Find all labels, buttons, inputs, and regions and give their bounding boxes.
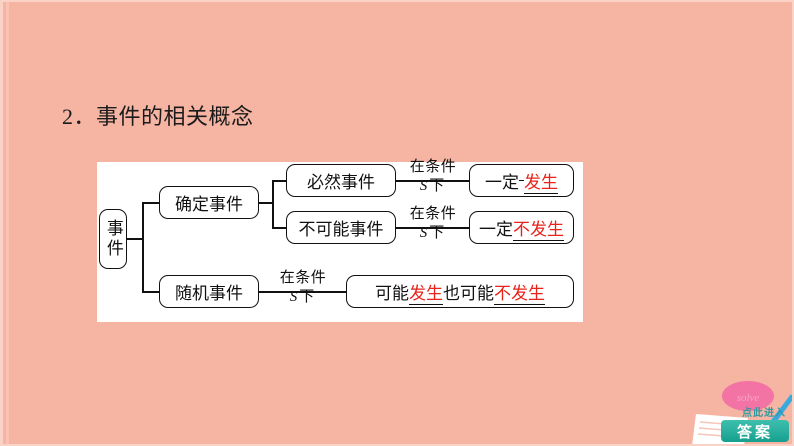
edge-label-numerator: 在条件 (400, 160, 466, 176)
connector-level1-bracket (142, 202, 144, 292)
connector-root-stem (127, 238, 143, 240)
certain-result-prefix: 一定 (485, 168, 519, 193)
impossible-result-prefix: 一定 (479, 215, 513, 240)
edge-label-denominator-suffix: 下 (429, 225, 446, 241)
edge-label-numerator: 在条件 (400, 207, 466, 223)
node-determined-event: 确定事件 (159, 186, 259, 219)
answer-button[interactable]: 答案 (721, 420, 789, 442)
certain-result-highlight: 发生 (524, 168, 558, 194)
random-result-highlight1: 发生 (409, 279, 443, 305)
concept-diagram-panel: 事件 确定事件 必然事件 在条件 S下 一定发生 不可能事件 在条件 (97, 162, 583, 322)
impossible-result-highlight: 不发生 (513, 215, 564, 241)
node-certain-event: 必然事件 (286, 164, 396, 197)
edge-label-numerator: 在条件 (267, 271, 339, 287)
node-random-event: 随机事件 (159, 275, 259, 308)
node-impossible-event: 不可能事件 (286, 211, 396, 244)
connector-to-impossible (272, 227, 287, 229)
page-title: 2．事件的相关概念 (62, 104, 254, 130)
random-result-part2: 也可能 (443, 279, 494, 304)
connector-to-random (142, 291, 160, 293)
node-root-event: 事件 (99, 209, 127, 269)
edge-label-condition-symbol: S (420, 225, 430, 241)
connector-level2-bracket (272, 180, 274, 228)
answer-decoration[interactable]: solve 点此进入 答案 (690, 380, 794, 446)
edge-label-condition-symbol: S (420, 178, 430, 194)
edge-label-impossible: 在条件 S下 (400, 207, 466, 242)
connector-to-certain (272, 180, 287, 182)
answer-hint-label: 点此进入 (742, 404, 786, 419)
slide-canvas: 2．事件的相关概念 事件 确定事件 必然事件 在条件 S下 一定发生 不可能事件 (0, 0, 794, 446)
pink-stamp-text: solve (737, 392, 760, 404)
node-impossible-result: 一定不发生 (469, 211, 574, 244)
node-random-result: 可能发生也可能不发生 (346, 275, 574, 308)
edge-label-denominator: S下 (400, 179, 466, 195)
left-edge-stripe (6, 2, 9, 444)
random-result-part1: 可能 (375, 279, 409, 304)
edge-label-random: 在条件 S下 (267, 271, 339, 306)
edge-label-certain: 在条件 S下 (400, 160, 466, 195)
edge-label-denominator-suffix: 下 (299, 289, 316, 305)
node-certain-result: 一定发生 (469, 164, 574, 197)
edge-label-denominator: S下 (267, 290, 339, 306)
edge-label-denominator-suffix: 下 (429, 178, 446, 194)
edge-label-condition-symbol: S (290, 289, 300, 305)
random-result-highlight2: 不发生 (494, 279, 545, 305)
connector-determined-stem (259, 202, 273, 204)
edge-label-denominator: S下 (400, 226, 466, 242)
connector-to-determined (142, 202, 160, 204)
